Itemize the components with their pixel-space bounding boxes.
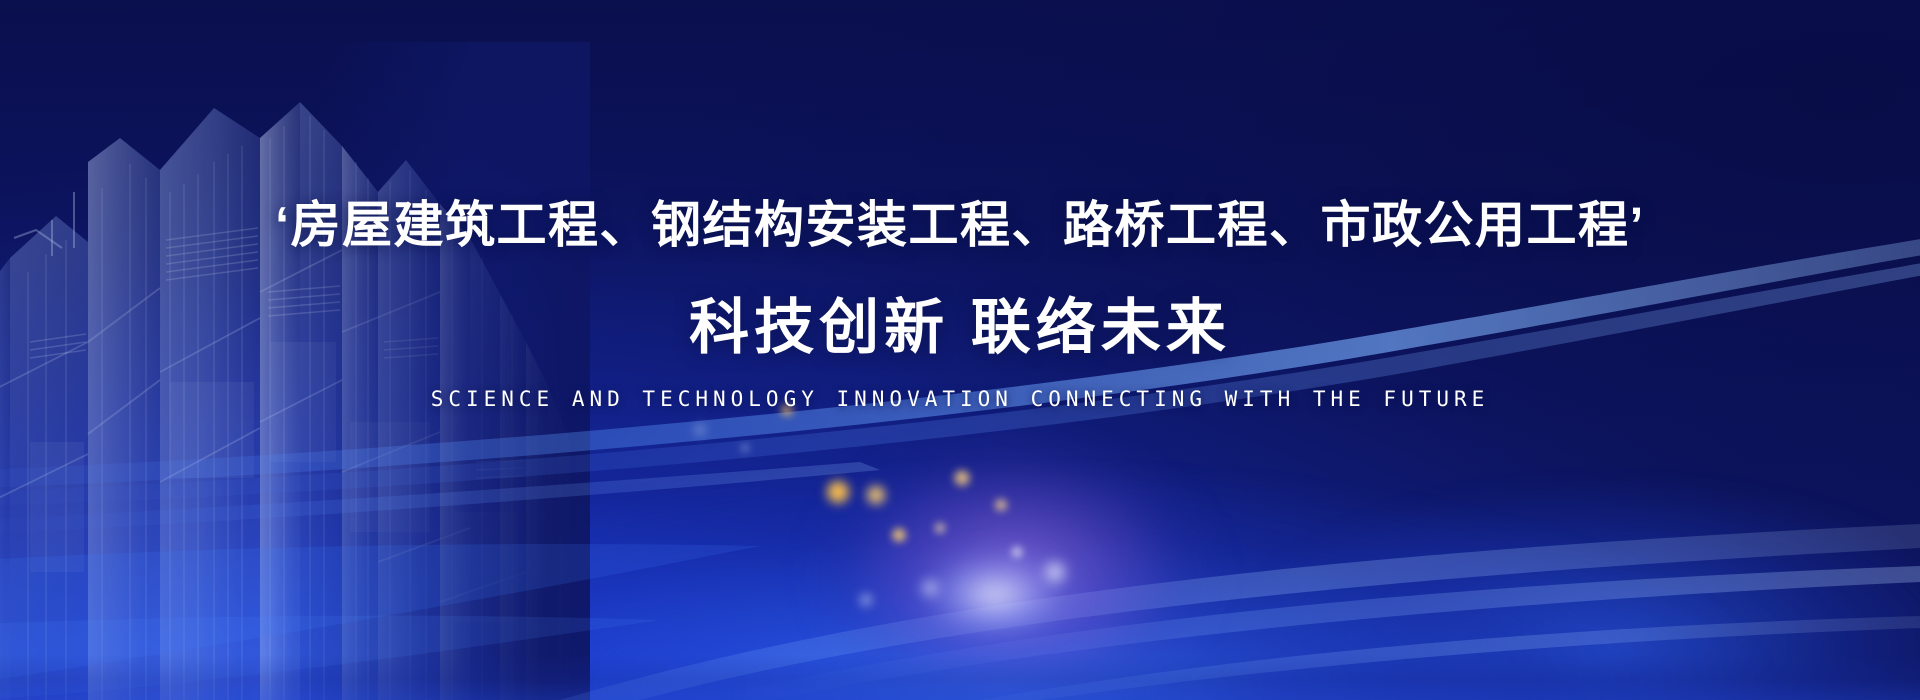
hero-banner: ‘房屋建筑工程、钢结构安装工程、路桥工程、市政公用工程’ 科技创新 联络未来 S… [0,0,1920,700]
banner-subtitle: SCIENCE AND TECHNOLOGY INNOVATION CONNEC… [0,387,1920,411]
bottom-edge-vignette [0,654,1920,700]
white-core-glow [880,530,1110,660]
banner-tagline: 科技创新 联络未来 [0,295,1920,361]
banner-headline: ‘房屋建筑工程、钢结构安装工程、路桥工程、市政公用工程’ [0,196,1920,255]
banner-text-block: ‘房屋建筑工程、钢结构安装工程、路桥工程、市政公用工程’ 科技创新 联络未来 S… [0,196,1920,411]
